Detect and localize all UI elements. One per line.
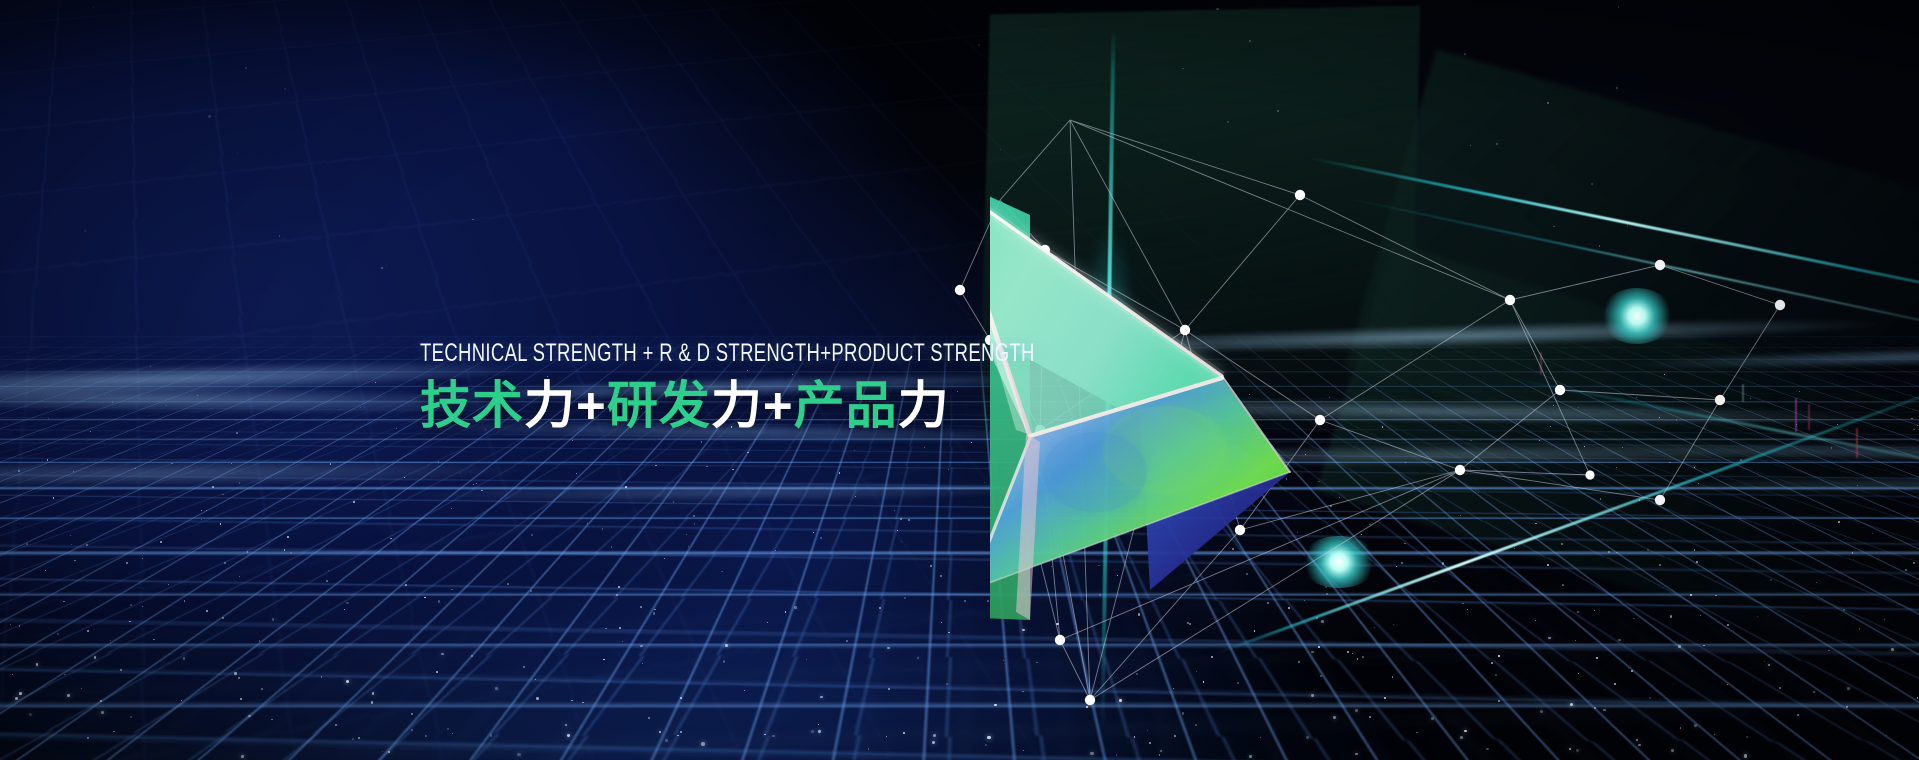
page-title: 技术力+研发力+产品力 [420, 376, 1135, 435]
headline-segment: + [763, 377, 794, 434]
headline-segment: 技术 [420, 377, 524, 434]
headline-segment: 力 [898, 377, 950, 434]
headline-segment: 力 [711, 377, 763, 434]
headline-segment: 研发 [607, 377, 711, 434]
headline-text-block: TECHNICAL STRENGTH + R & D STRENGTH+PROD… [420, 342, 1135, 435]
headline-segment: + [576, 377, 607, 434]
headline-segment: 力 [524, 377, 576, 434]
eyebrow-text: TECHNICAL STRENGTH + R & D STRENGTH+PROD… [420, 340, 1035, 368]
hero-banner: TECHNICAL STRENGTH + R & D STRENGTH+PROD… [0, 0, 1919, 760]
headline-segment: 产品 [794, 377, 898, 434]
